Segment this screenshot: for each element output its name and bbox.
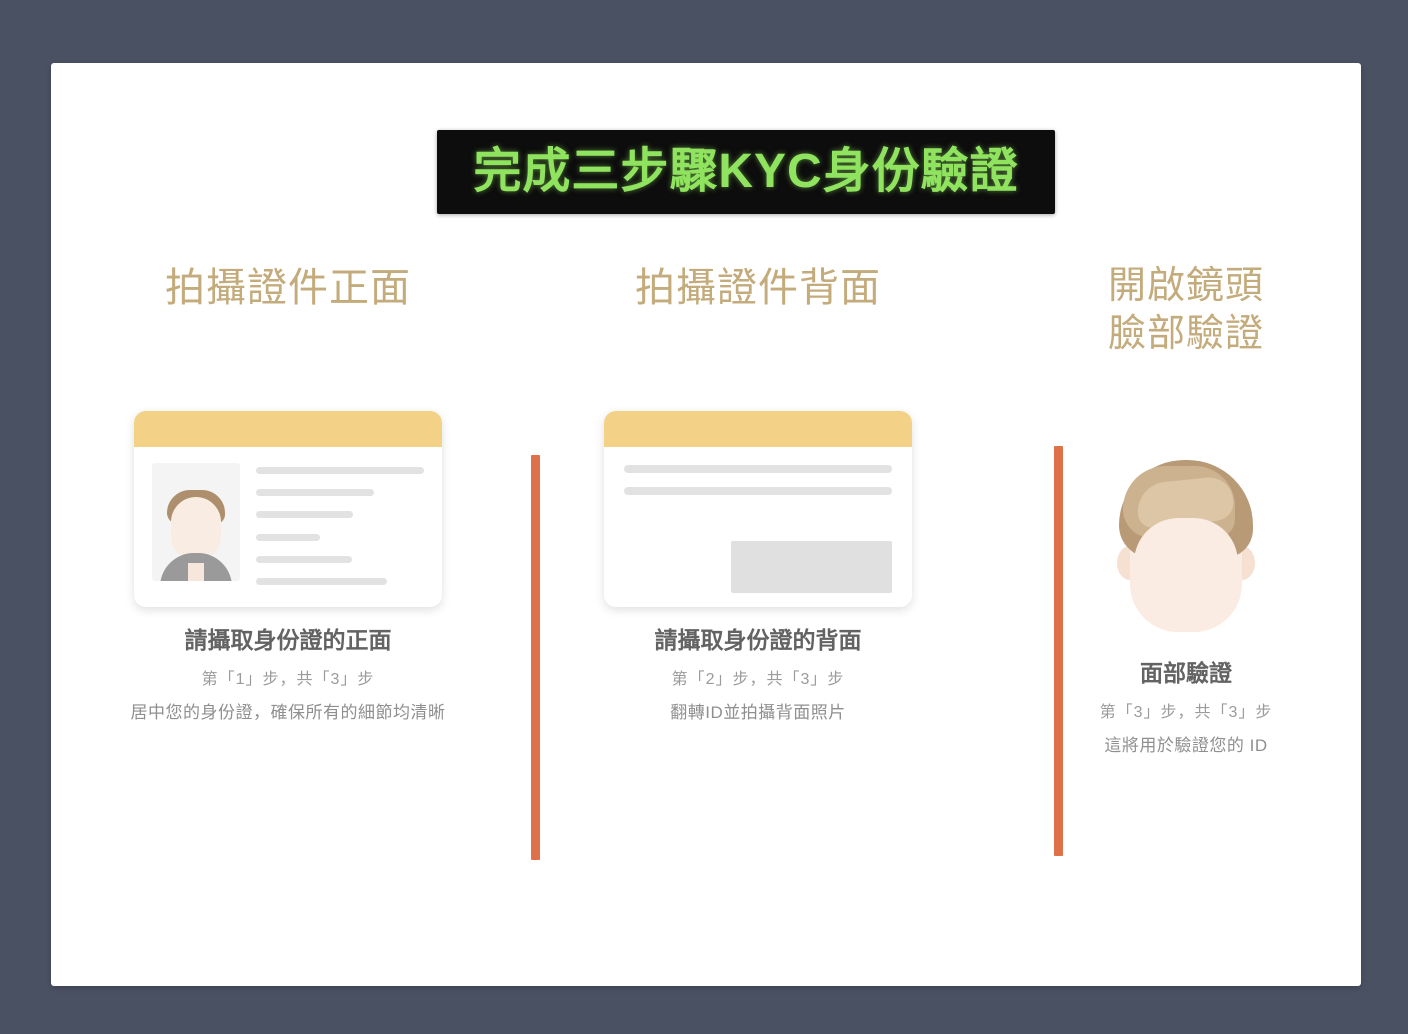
step-column-3: 開啟鏡頭 臉部驗證 面部驗證 第「3」步，共「3」步 這將用於驗證您的 ID: [1026, 263, 1346, 756]
divider-between-step-2-and-3: [1054, 446, 1063, 856]
id-card-back-illustration: [604, 411, 912, 607]
step-3-caption-hint: 這將用於驗證您的 ID: [1026, 731, 1346, 756]
step-3-caption-step: 第「3」步，共「3」步: [1026, 698, 1346, 722]
step-1-heading: 拍攝證件正面: [73, 263, 503, 313]
step-1-caption: 請攝取身份證的正面 第「1」步，共「3」步 居中您的身份證，確保所有的細節均清晰: [73, 625, 503, 723]
id-card-header-stripe: [604, 411, 912, 447]
steps-row: 拍攝證件正面: [51, 263, 1361, 883]
id-card-back-body: [604, 447, 912, 607]
id-card-body: [134, 447, 442, 607]
divider-between-step-1-and-2: [531, 455, 540, 860]
id-text-line: [256, 489, 374, 496]
step-3-heading-line-1: 開啟鏡頭: [1026, 263, 1346, 311]
step-3-caption-title: 面部驗證: [1026, 658, 1346, 689]
step-3-graphic-slot: [1026, 380, 1346, 640]
step-3-heading: 開啟鏡頭 臉部驗證: [1026, 263, 1346, 358]
step-column-1: 拍攝證件正面: [73, 263, 503, 723]
portrait-collar-icon: [188, 563, 204, 581]
id-card-header-stripe: [134, 411, 442, 447]
page-title: 完成三步驟KYC身份驗證: [473, 148, 1018, 196]
id-back-text-line: [624, 487, 892, 495]
step-2-caption-hint: 翻轉ID並拍攝背面照片: [543, 698, 973, 723]
id-text-line: [256, 467, 424, 474]
id-photo-placeholder: [152, 463, 240, 581]
step-2-caption-step: 第「2」步，共「3」步: [543, 665, 973, 689]
face-portrait-illustration: [1111, 454, 1261, 640]
step-1-graphic-slot: [73, 347, 503, 607]
step-1-caption-hint: 居中您的身份證，確保所有的細節均清晰: [73, 698, 503, 723]
portrait-face-icon: [171, 497, 221, 559]
step-3-caption: 面部驗證 第「3」步，共「3」步 這將用於驗證您的 ID: [1026, 658, 1346, 756]
id-text-line: [256, 578, 387, 585]
slide-canvas: 完成三步驟KYC身份驗證 拍攝證件正面: [51, 63, 1361, 986]
id-text-line: [256, 511, 353, 518]
step-2-caption-title: 請攝取身份證的背面: [543, 625, 973, 656]
step-2-heading: 拍攝證件背面: [543, 263, 973, 313]
title-banner: 完成三步驟KYC身份驗證: [437, 130, 1055, 214]
step-column-2: 拍攝證件背面 請攝取身份證的背面 第「2」步，共「3」步 翻轉ID並拍攝背面照片: [543, 263, 973, 723]
id-card-front-illustration: [134, 411, 442, 607]
step-1-caption-step: 第「1」步，共「3」步: [73, 665, 503, 689]
step-2-caption: 請攝取身份證的背面 第「2」步，共「3」步 翻轉ID並拍攝背面照片: [543, 625, 973, 723]
step-3-heading-line-2: 臉部驗證: [1026, 311, 1346, 359]
step-2-graphic-slot: [543, 347, 973, 607]
id-back-signature-block: [731, 541, 892, 593]
id-text-lines: [256, 463, 424, 591]
id-text-line: [256, 534, 320, 541]
id-text-line: [256, 556, 352, 563]
step-1-caption-title: 請攝取身份證的正面: [73, 625, 503, 656]
id-back-text-line: [624, 465, 892, 473]
